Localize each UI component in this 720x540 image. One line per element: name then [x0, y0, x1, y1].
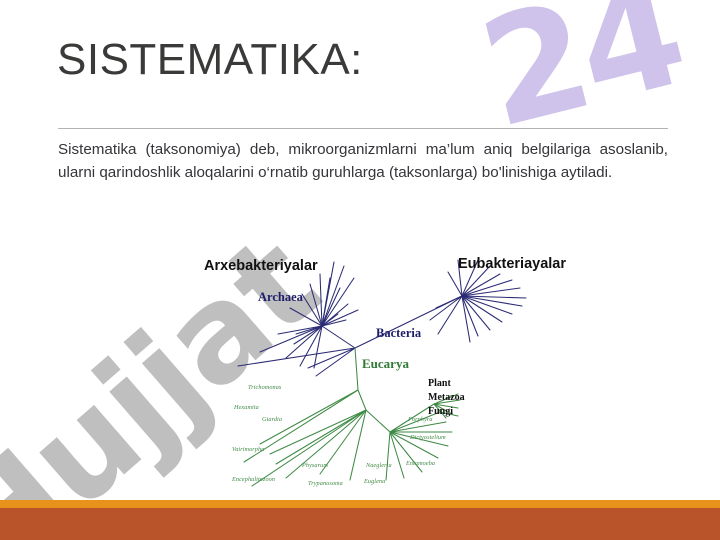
label-plant: Plant — [428, 378, 451, 389]
label-arxebakteriyalar: Arxebakteriyalar — [204, 258, 318, 274]
archaea-branches — [238, 262, 358, 376]
label-eucarya: Eucarya — [362, 356, 409, 372]
label-giardia: Giardia — [262, 416, 282, 423]
label-hexamita: Hexamita — [234, 404, 259, 411]
body-paragraph: Sistematika (taksonomiya) deb, mikroorga… — [58, 138, 668, 184]
watermark-number: 24 — [466, 0, 696, 161]
label-encephalitozoon: Encephalitozoon — [232, 476, 275, 483]
label-naegleria: Naegleria — [366, 462, 392, 469]
label-archaea: Archaea — [258, 290, 303, 305]
footer-accent-strip — [0, 500, 720, 508]
label-trypanosoma: Trypanosoma — [308, 480, 343, 487]
label-entamoeba: Entamoeba — [406, 460, 435, 467]
label-bacteria: Bacteria — [376, 326, 421, 341]
footer-bar — [0, 508, 720, 540]
label-euglena: Euglena — [364, 478, 385, 485]
label-vairimorpha: Vairimorpha — [232, 446, 264, 453]
label-porphyra: Porphyra — [408, 416, 433, 423]
label-dictyostelium: Dictyostelium — [410, 434, 446, 441]
label-physarum: Physarum — [302, 462, 328, 469]
tree-svg — [190, 248, 600, 500]
label-metazoa: Metazoa — [428, 392, 465, 403]
page-title: SISTEMATIKA: — [57, 34, 357, 86]
title-divider — [58, 128, 668, 129]
label-eubakteriayalar: Eubakteriayalar — [458, 256, 566, 272]
slide-canvas: 24 Hujjat SISTEMATIKA: Sistematika (taks… — [0, 0, 720, 540]
label-trichomonas: Trichomonas — [248, 384, 281, 391]
phylogenetic-tree-figure: Arxebakteriyalar Eubakteriayalar Eukaria… — [190, 248, 600, 500]
